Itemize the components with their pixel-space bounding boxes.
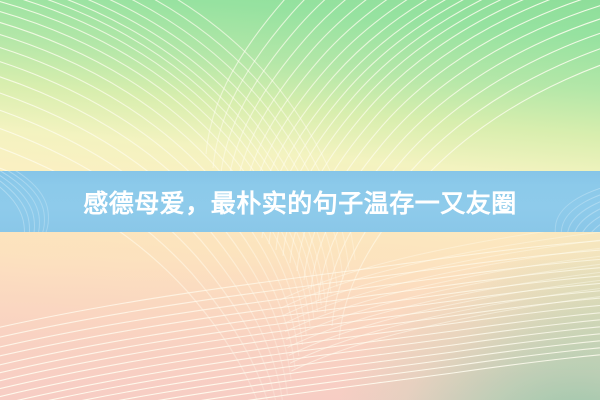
poster-image: 感德母爱，最朴实的句子温存一又友圈 [0, 0, 600, 400]
title-banner-band: 感德母爱，最朴实的句子温存一又友圈 [0, 171, 600, 232]
background-teal-accent-bottom-right [340, 260, 600, 400]
page-title: 感德母爱，最朴实的句子温存一又友圈 [0, 171, 600, 232]
